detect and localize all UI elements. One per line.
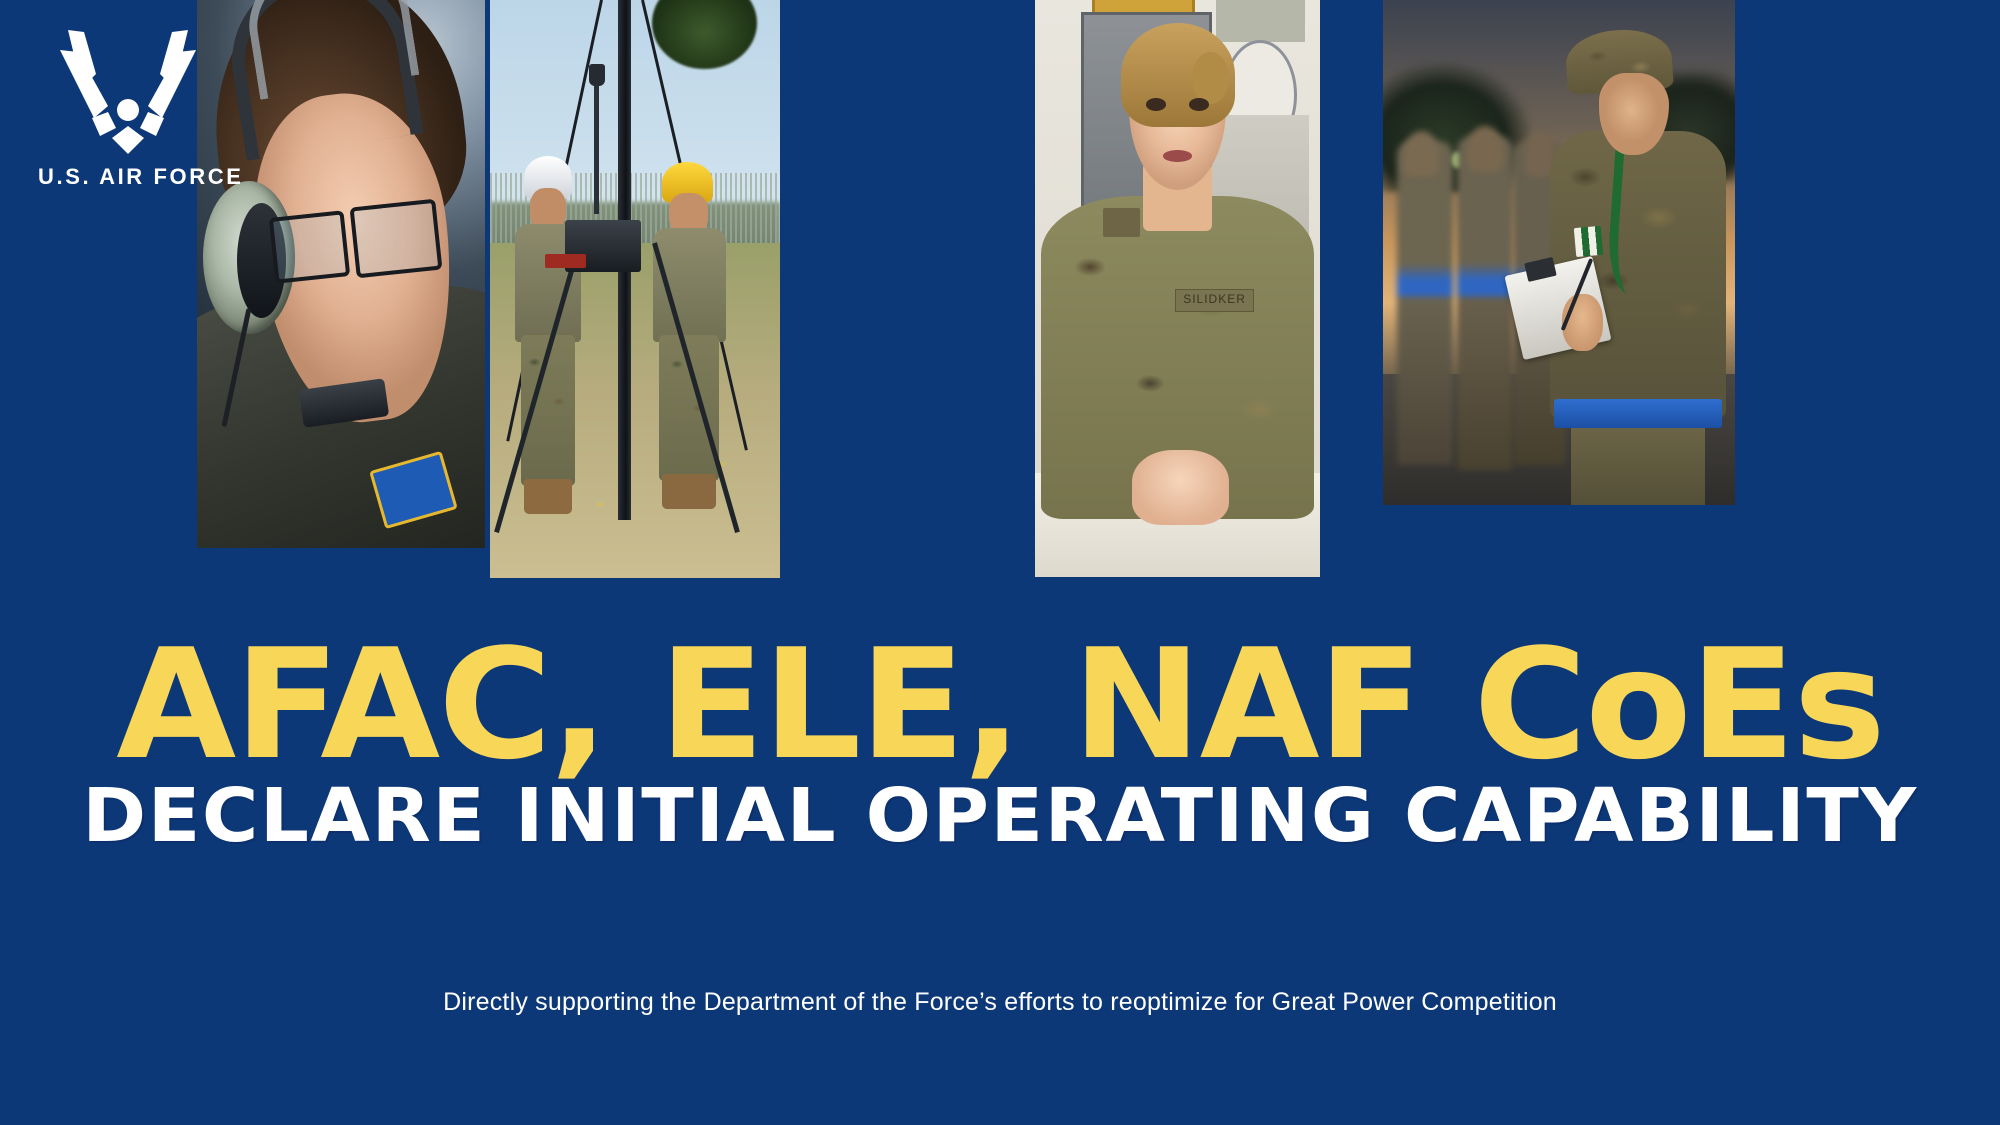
photo-4-scene [1383, 0, 1735, 505]
p2-red-crank-handle [545, 254, 586, 268]
photo-3-scene: SILIDKER [1035, 0, 1320, 577]
p3-rank-insignia [1103, 208, 1140, 237]
p4-blue-belt [1554, 399, 1721, 428]
p4-shoulder-flag-patch [1573, 226, 1602, 257]
poster-graphic: U.S. AIR FORCE [0, 0, 2000, 1125]
p3-name-tape: SILIDKER [1175, 289, 1255, 312]
p4-formation-airman-1 [1397, 141, 1453, 464]
photo-2-scene [490, 0, 780, 578]
p2-lamp-head [589, 64, 605, 86]
p3-right-eye [1189, 98, 1209, 111]
p1-glasses-left-lens [269, 210, 350, 283]
p2-lamp-post [594, 75, 599, 214]
photo-1-scene [197, 0, 485, 548]
headline-primary: AFAC, ELE, NAF CoEs [0, 640, 2000, 771]
photo-panel-antenna-mast [490, 0, 780, 578]
p4-formation-airman-2 [1457, 136, 1513, 469]
air-force-wings-icon [38, 22, 218, 162]
p2-airman-white-helmet [510, 156, 585, 514]
photo-panel-clipboard-dusk [1383, 0, 1735, 505]
p4-foreground-airman [1538, 25, 1735, 505]
headline-secondary: DECLARE INITIAL OPERATING CAPABILITY [0, 781, 2000, 851]
p3-name-tape-text: SILIDKER [1176, 290, 1254, 309]
headline-block: AFAC, ELE, NAF CoEs DECLARE INITIAL OPER… [0, 640, 2000, 851]
p3-hair-bun [1192, 52, 1229, 104]
p3-left-eye [1146, 98, 1166, 111]
photo-panel-airman-headset [197, 0, 485, 548]
p2-airman-a-boots [524, 479, 572, 515]
p4-writing-hand [1562, 294, 1603, 352]
caption-text: Directly supporting the Department of th… [0, 988, 2000, 1017]
p3-wall-photo-frame [1212, 0, 1309, 46]
air-force-logo: U.S. AIR FORCE [38, 22, 218, 182]
p2-airman-b-boots [662, 474, 716, 509]
p1-glasses-right-lens [349, 198, 442, 278]
photo-panel-airman-portrait: SILIDKER [1035, 0, 1320, 577]
p3-clasped-hands [1132, 450, 1229, 525]
p4-ocp-trousers [1571, 428, 1706, 505]
p4-formation-airman-1-head [1404, 131, 1439, 176]
p4-formation-airman-2-head [1467, 126, 1502, 171]
air-force-wordmark: U.S. AIR FORCE [38, 164, 228, 190]
p3-lips [1163, 150, 1192, 162]
